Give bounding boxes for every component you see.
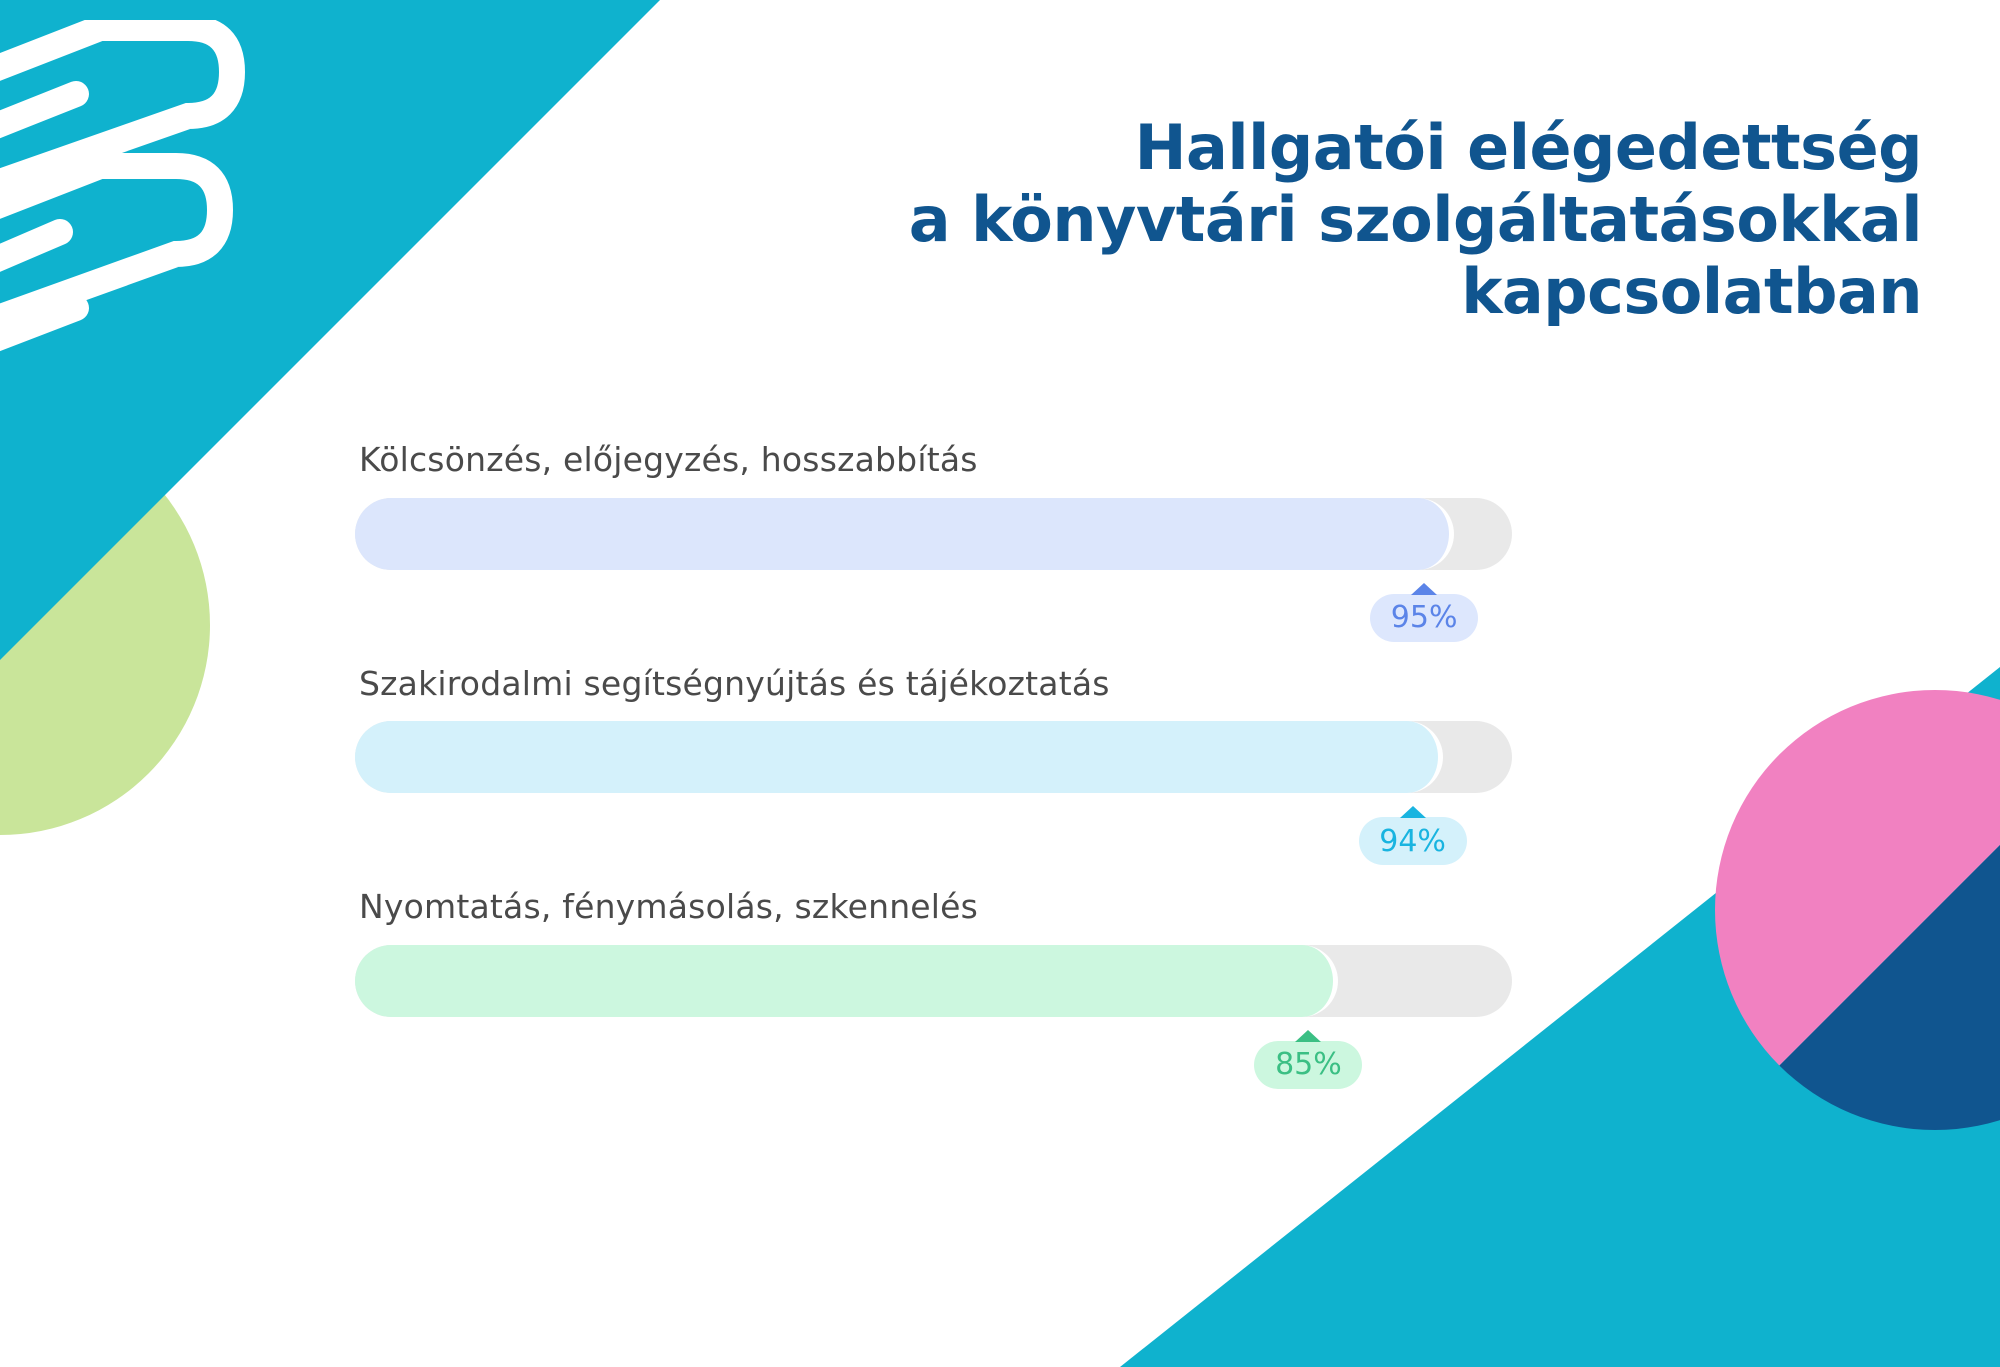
bar-fill	[355, 498, 1454, 570]
left-split-semicircle-decoration	[0, 415, 210, 835]
circle-navy-half	[1715, 690, 2000, 1130]
bar-fill	[355, 721, 1443, 793]
bar-category-label: Kölcsönzés, előjegyzés, hosszabbítás	[359, 440, 1515, 480]
bar-track	[355, 721, 1512, 793]
title-line-2: a könyvtári szolgáltatásokkal	[642, 184, 1922, 256]
title-line-1: Hallgatói elégedettség	[642, 112, 1922, 184]
chart-row: Kölcsönzés, előjegyzés, hosszabbítás 95%	[355, 440, 1515, 646]
title-line-3: kapcsolatban	[642, 256, 1922, 328]
badge-value: 95%	[1391, 600, 1458, 635]
bar-fill	[355, 945, 1338, 1017]
infographic-canvas: Hallgatói elégedettség a könyvtári szolg…	[0, 0, 2000, 1367]
circle-pink-half	[1715, 690, 2000, 1130]
badge-pointer-icon	[1295, 1030, 1321, 1042]
bar-track	[355, 945, 1512, 1017]
semicircle-lime-half	[0, 415, 210, 835]
bar-category-label: Szakirodalmi segítségnyújtás és tájékozt…	[359, 664, 1515, 704]
library-zigzag-logo-icon	[0, 20, 320, 360]
chart-row: Szakirodalmi segítségnyújtás és tájékozt…	[355, 664, 1515, 870]
semicircle-green-half	[0, 415, 210, 835]
badge-value: 85%	[1275, 1047, 1342, 1082]
bar-value-badge-wrap: 85%	[355, 1031, 1515, 1093]
bar-track	[355, 498, 1512, 570]
chart-row: Nyomtatás, fénymásolás, szkennelés 85%	[355, 887, 1515, 1093]
right-split-circle-decoration	[1715, 690, 2000, 1130]
badge-value: 94%	[1379, 824, 1446, 859]
badge-pointer-icon	[1411, 583, 1437, 595]
bar-value-badge-wrap: 94%	[355, 807, 1515, 869]
bar-category-label: Nyomtatás, fénymásolás, szkennelés	[359, 887, 1515, 927]
page-title: Hallgatói elégedettség a könyvtári szolg…	[642, 112, 1922, 328]
status-badge: 85%	[1254, 1041, 1362, 1089]
status-badge: 94%	[1359, 817, 1467, 865]
status-badge: 95%	[1370, 594, 1478, 642]
satisfaction-bar-chart: Kölcsönzés, előjegyzés, hosszabbítás 95%…	[355, 440, 1515, 1111]
badge-pointer-icon	[1400, 806, 1426, 818]
bar-value-badge-wrap: 95%	[355, 584, 1515, 646]
